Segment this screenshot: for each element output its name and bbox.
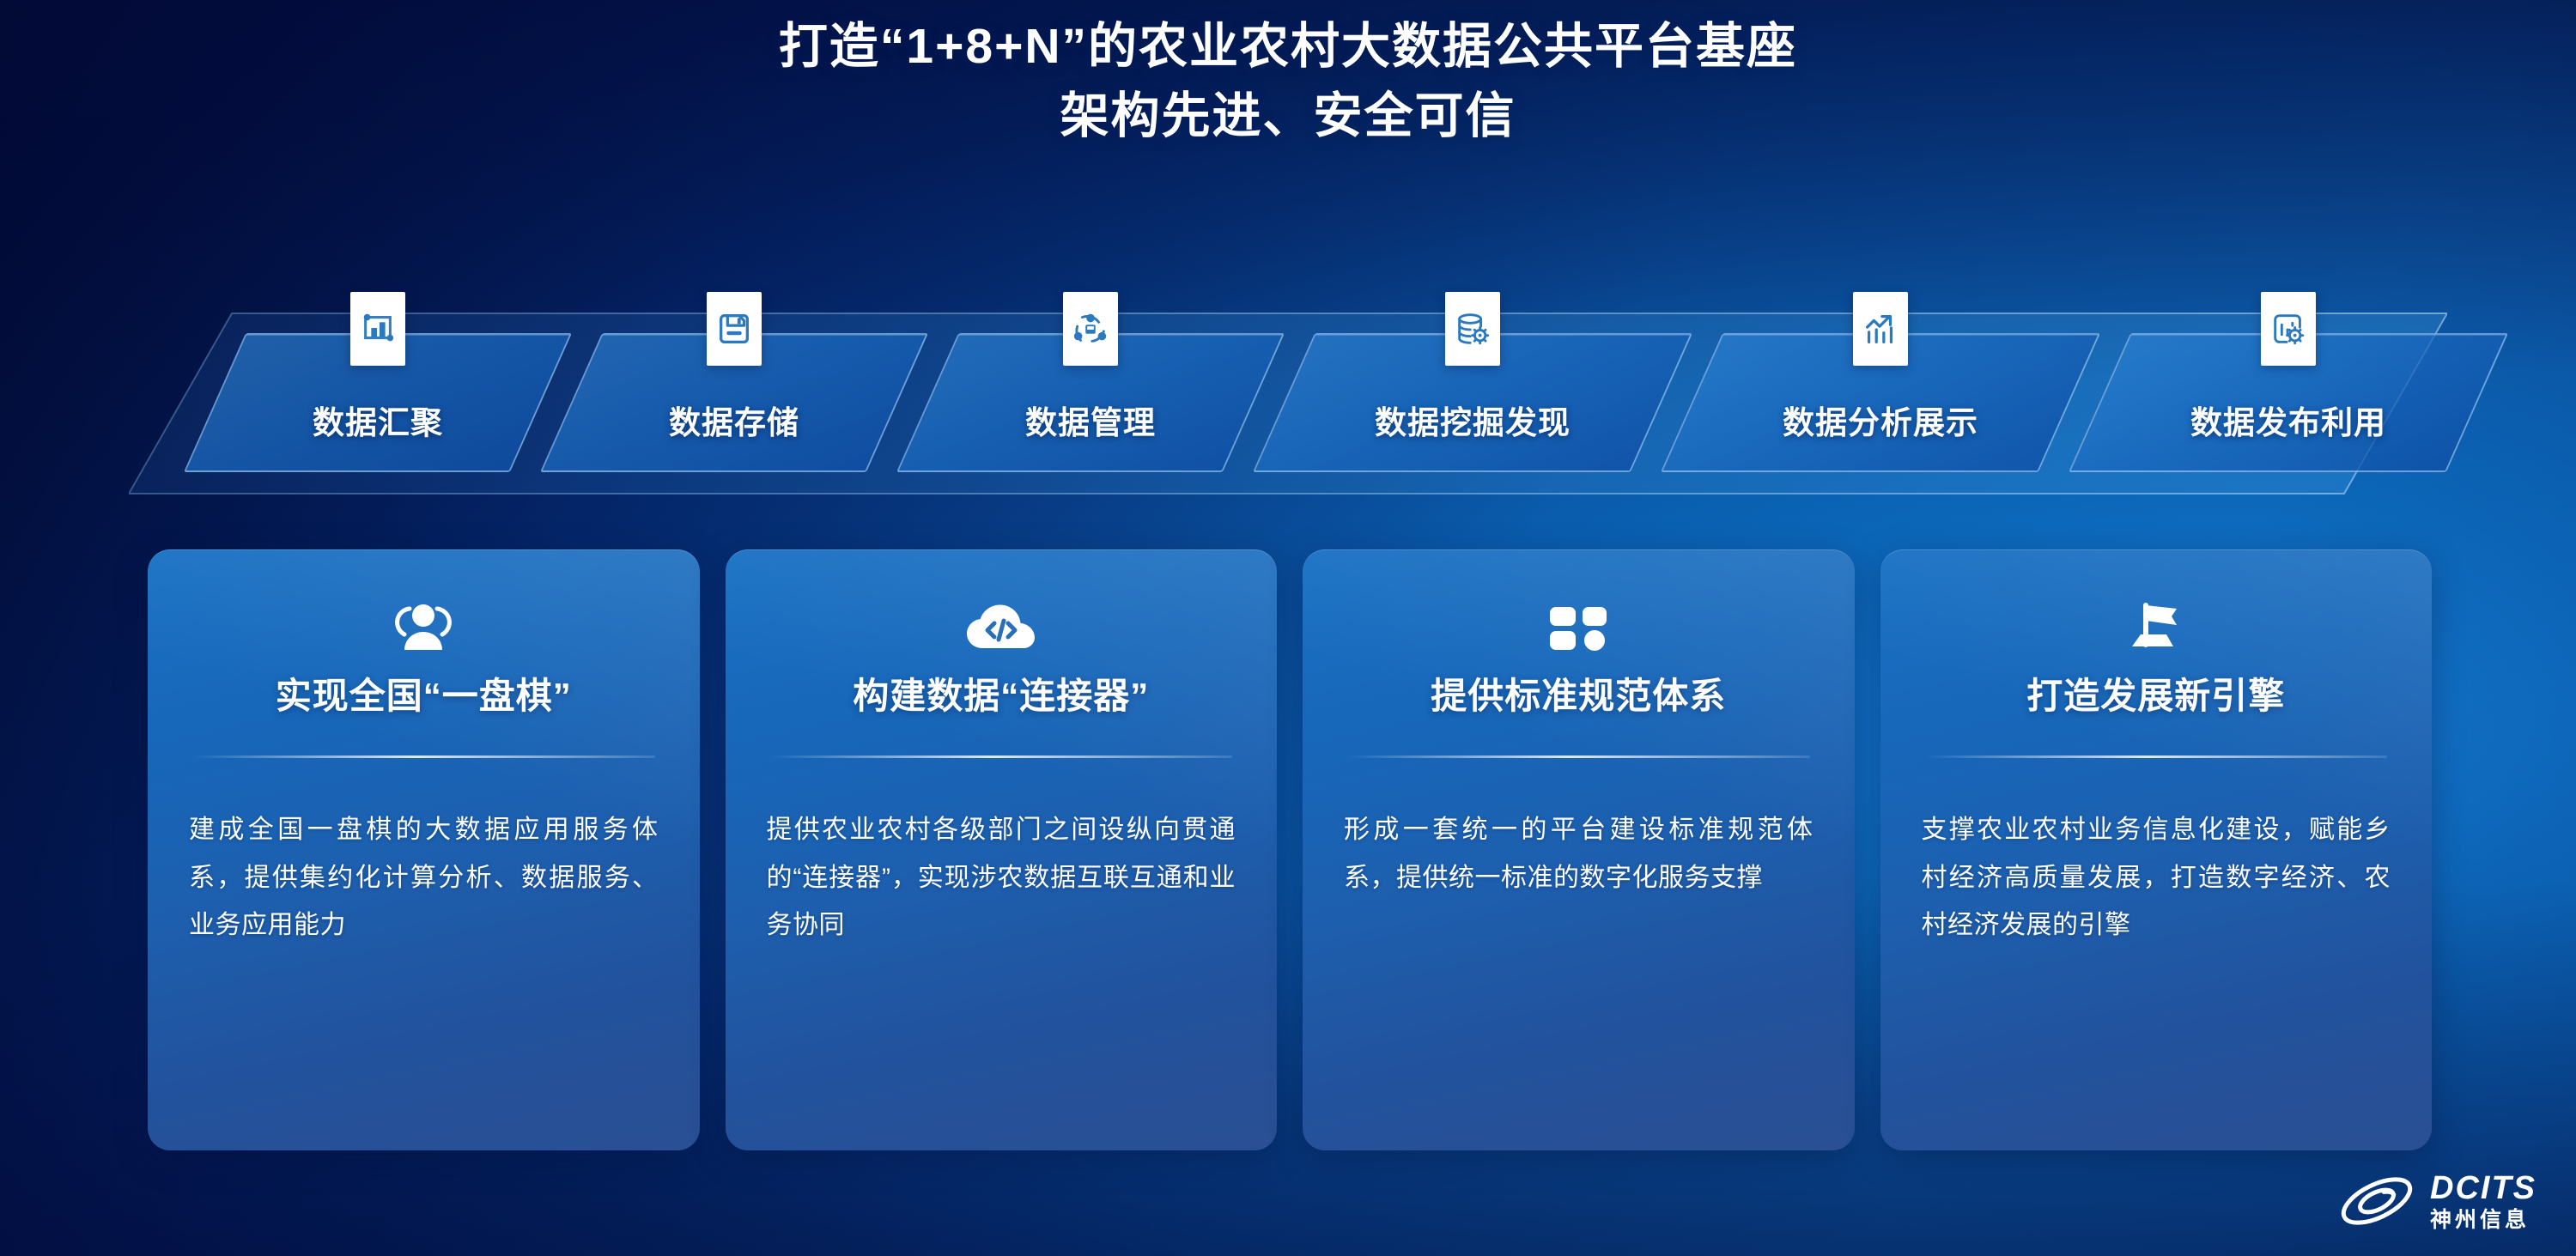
logo-text: DCITS 神州信息 [2430, 1172, 2537, 1231]
page-title: 打造“1+8+N”的农业农村大数据公共平台基座 架构先进、安全可信 [0, 12, 2576, 151]
stage-item-2[interactable]: 数据存储 [571, 333, 897, 472]
card-title: 打造发展新引擎 [1922, 675, 2391, 718]
bar-chart-node-icon [350, 292, 405, 366]
stage-label: 数据存储 [571, 397, 897, 443]
stage-item-6[interactable]: 数据发布利用 [2099, 333, 2477, 472]
network-management-icon [1063, 292, 1118, 366]
stage-item-4[interactable]: 数据挖掘发现 [1284, 333, 1662, 472]
card-divider [1347, 755, 1810, 758]
trend-chart-icon [1853, 292, 1908, 366]
feature-card-3[interactable]: 提供标准规范体系 形成一套统一的平台建设标准规范体系，提供统一标准的数字化服务支… [1303, 549, 1855, 1150]
title-line-1: 打造“1+8+N”的农业农村大数据公共平台基座 [0, 12, 2576, 82]
stage-item-5[interactable]: 数据分析展示 [1692, 333, 2069, 472]
grid-blocks-icon [1344, 594, 1814, 661]
title-line-2: 架构先进、安全可信 [0, 82, 2576, 151]
report-gear-icon [2261, 292, 2316, 366]
database-gear-icon [1445, 292, 1500, 366]
stage-label: 数据管理 [927, 397, 1254, 443]
card-body: 形成一套统一的平台建设标准规范体系，提供统一标准的数字化服务支撑 [1344, 806, 1814, 901]
feature-card-1[interactable]: 实现全国“一盘棋” 建成全国一盘棋的大数据应用服务体系，提供集约化计算分析、数据… [148, 549, 700, 1150]
card-title: 提供标准规范体系 [1344, 675, 1814, 718]
card-body: 提供农业农村各级部门之间设纵向贯通的“连接器”，实现涉农数据互联互通和业务协同 [767, 806, 1236, 950]
card-divider [770, 755, 1233, 758]
stage-item-1[interactable]: 数据汇聚 [215, 333, 541, 472]
stage-list: 数据汇聚 数据存储 [129, 283, 2447, 515]
stage-item-3[interactable]: 数据管理 [927, 333, 1254, 472]
stage-label: 数据挖掘发现 [1284, 397, 1662, 443]
cloud-code-icon [767, 594, 1236, 661]
logo-cn-text: 神州信息 [2430, 1210, 2537, 1231]
process-band: 数据汇聚 数据存储 [129, 283, 2447, 515]
stage-label: 数据分析展示 [1692, 397, 2069, 443]
card-divider [192, 755, 655, 758]
stage-label: 数据汇聚 [215, 397, 541, 443]
feature-card-4[interactable]: 打造发展新引擎 支撑农业农村业务信息化建设，赋能乡村经济高质量发展，打造数字经济… [1880, 549, 2433, 1150]
flag-icon [1922, 594, 2391, 661]
card-title: 构建数据“连接器” [767, 675, 1236, 718]
card-title: 实现全国“一盘棋” [189, 675, 659, 718]
stage-label: 数据发布利用 [2099, 397, 2477, 443]
card-body: 建成全国一盘棋的大数据应用服务体系，提供集约化计算分析、数据服务、业务应用能力 [189, 806, 659, 950]
company-logo: DCITS 神州信息 [2336, 1170, 2537, 1232]
logo-en-text: DCITS [2430, 1172, 2537, 1204]
card-divider [1925, 755, 2388, 758]
users-group-icon [189, 594, 659, 661]
feature-card-list: 实现全国“一盘棋” 建成全国一盘棋的大数据应用服务体系，提供集约化计算分析、数据… [148, 549, 2432, 1150]
dcits-swoosh-icon [2336, 1170, 2418, 1232]
feature-card-2[interactable]: 构建数据“连接器” 提供农业农村各级部门之间设纵向贯通的“连接器”，实现涉农数据… [726, 549, 1278, 1150]
floppy-disk-icon [707, 292, 762, 366]
card-body: 支撑农业农村业务信息化建设，赋能乡村经济高质量发展，打造数字经济、农村经济发展的… [1922, 806, 2391, 950]
